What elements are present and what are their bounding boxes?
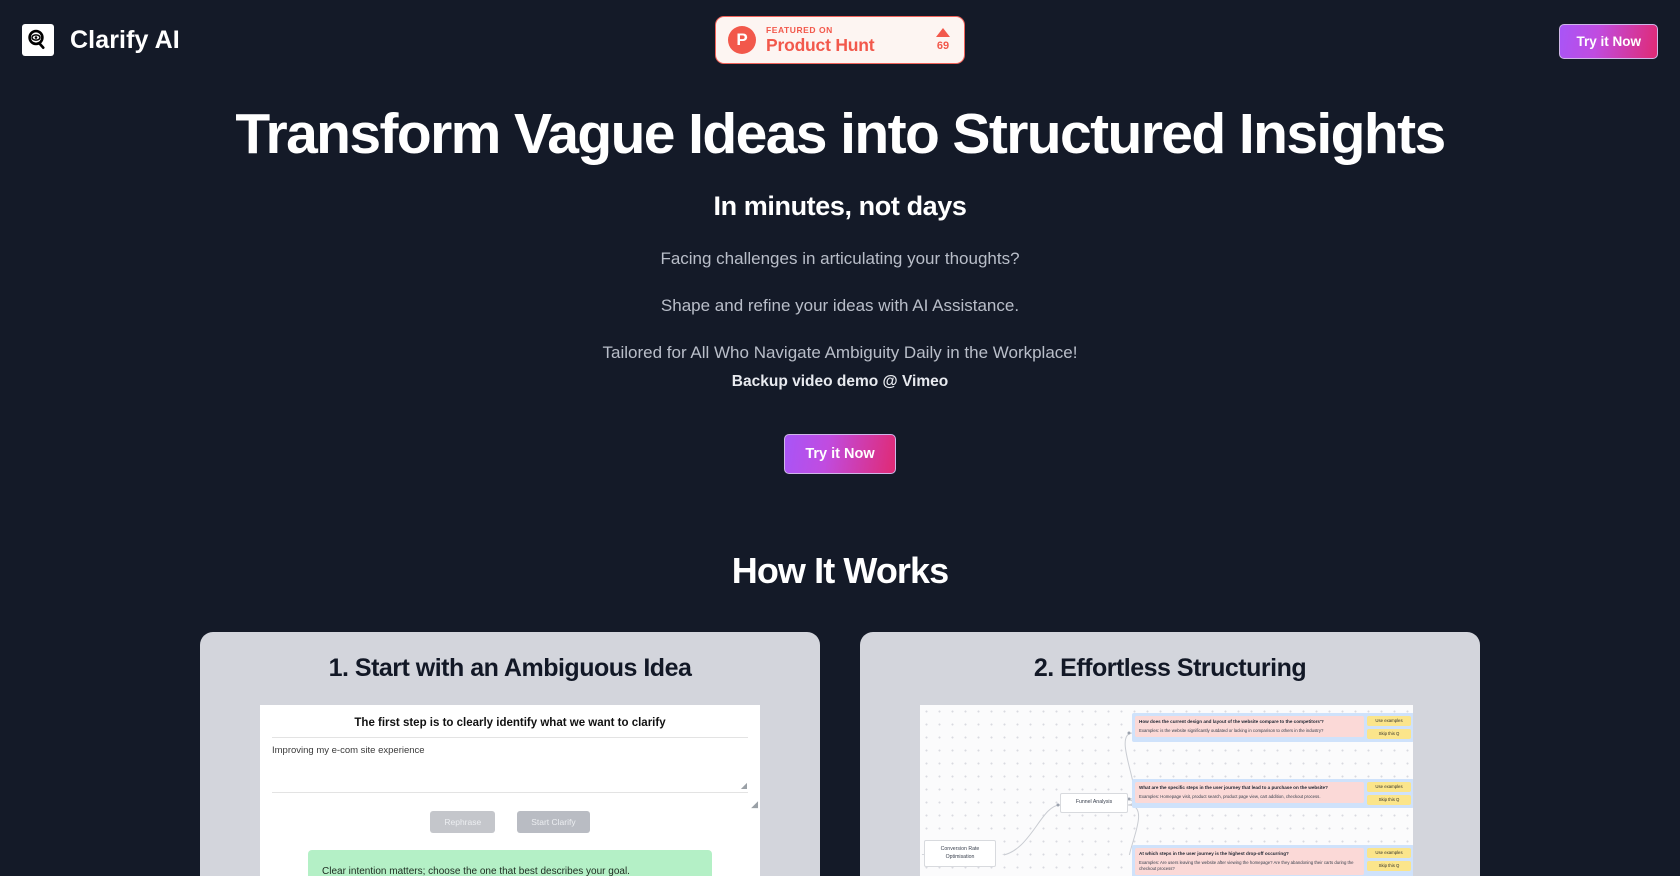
brand-name: Clarify AI [70,26,180,55]
how-it-works-title: How It Works [0,550,1680,592]
product-hunt-name: Product Hunt [766,37,926,55]
product-hunt-featured-label: FEATURED ON [766,26,926,35]
mindmap-question-actions: Use examples Skip this Q [1367,716,1411,739]
use-examples-button[interactable]: Use examples [1367,716,1411,726]
question-examples: Examples: Are users leaving the website … [1139,860,1360,873]
hero-paragraph-2: Shape and refine your ideas with AI Assi… [0,296,1680,316]
mindmap-question-card[interactable]: How does the current design and layout o… [1135,716,1364,737]
hero-subheadline: In minutes, not days [0,191,1680,222]
skip-this-q-button[interactable]: Skip this Q [1367,795,1411,805]
skip-this-q-button[interactable]: Skip this Q [1367,861,1411,871]
mindmap-question-group-1: How does the current design and layout o… [1132,713,1414,742]
how-it-works-cards: 1. Start with an Ambiguous Idea The firs… [0,632,1680,876]
hero-paragraph-1: Facing challenges in articulating your t… [0,249,1680,269]
mock-heading: The first step is to clearly identify wh… [272,713,748,737]
mock-idea-value: Improving my e-com site experience [272,745,748,756]
hero-headline: Transform Vague Ideas into Structured In… [0,105,1680,165]
mindmap-question-group-3: At which steps in the user journey is th… [1132,845,1414,876]
mock-rephrase-button[interactable]: Rephrase [430,811,495,833]
hero-try-it-now-button[interactable]: Try it Now [784,434,895,474]
resize-handle-icon[interactable]: ◢ [751,800,758,809]
question-examples: Examples: Homepage visit, product search… [1139,794,1360,800]
site-header: Clarify AI P FEATURED ON Product Hunt 69… [0,0,1680,80]
resize-handle-icon[interactable]: ◢ [741,782,747,790]
mindmap-question-group-2: What are the specific steps in the user … [1132,779,1414,808]
header-try-it-now-button[interactable]: Try it Now [1559,24,1658,59]
mindmap-node-conversion-rate-optimisation[interactable]: Conversion Rate Optimisation [924,840,996,868]
mindmap-scrollbar[interactable] [1413,705,1420,876]
use-examples-button[interactable]: Use examples [1367,782,1411,792]
product-hunt-texts: FEATURED ON Product Hunt [766,26,926,55]
question-text: How does the current design and layout o… [1139,719,1360,726]
how-it-works-card-1: 1. Start with an Ambiguous Idea The firs… [200,632,820,876]
product-hunt-upvote-count: 69 [937,40,949,52]
product-hunt-logo-icon: P [728,26,756,54]
mindmap-node-funnel-analysis[interactable]: Funnel Analysis [1060,793,1128,813]
card-1-app-screenshot: The first step is to clearly identify wh… [260,705,760,876]
mindmap-question-card[interactable]: At which steps in the user journey is th… [1135,848,1364,876]
mindmap-question-actions: Use examples Skip this Q [1367,782,1411,805]
card-1-title: 1. Start with an Ambiguous Idea [220,654,800,683]
brand[interactable]: Clarify AI [22,24,180,56]
mock-start-clarify-button[interactable]: Start Clarify [517,811,589,833]
hero-paragraph-3: Tailored for All Who Navigate Ambiguity … [0,343,1680,363]
upvote-triangle-icon [936,28,950,37]
skip-this-q-button[interactable]: Skip this Q [1367,729,1411,739]
mindmap-question-actions: Use examples Skip this Q [1367,848,1411,871]
mindmap-question-card[interactable]: What are the specific steps in the user … [1135,782,1364,803]
question-text: At which steps in the user journey is th… [1139,851,1360,858]
question-text: What are the specific steps in the user … [1139,785,1360,792]
product-hunt-badge[interactable]: P FEATURED ON Product Hunt 69 [715,16,965,64]
product-hunt-upvotes[interactable]: 69 [936,28,952,52]
question-examples: Examples: is the website significantly o… [1139,728,1360,734]
how-it-works-card-2: 2. Effortless Structuring Conversion Rat… [860,632,1480,876]
card-2-mindmap-screenshot: Conversion Rate Optimisation Funnel Anal… [920,705,1420,876]
magnifier-eye-icon [22,24,54,56]
use-examples-button[interactable]: Use examples [1367,848,1411,858]
hero-section: Transform Vague Ideas into Structured In… [0,80,1680,474]
mock-idea-textarea[interactable]: Improving my e-com site experience ◢ ◢ [272,737,748,793]
mock-button-row: Rephrase Start Clarify [272,811,748,833]
mock-intention-note: Clear intention matters; choose the one … [308,850,712,876]
backup-video-demo-link[interactable]: Backup video demo @ Vimeo [0,373,1680,391]
card-2-title: 2. Effortless Structuring [880,654,1460,683]
